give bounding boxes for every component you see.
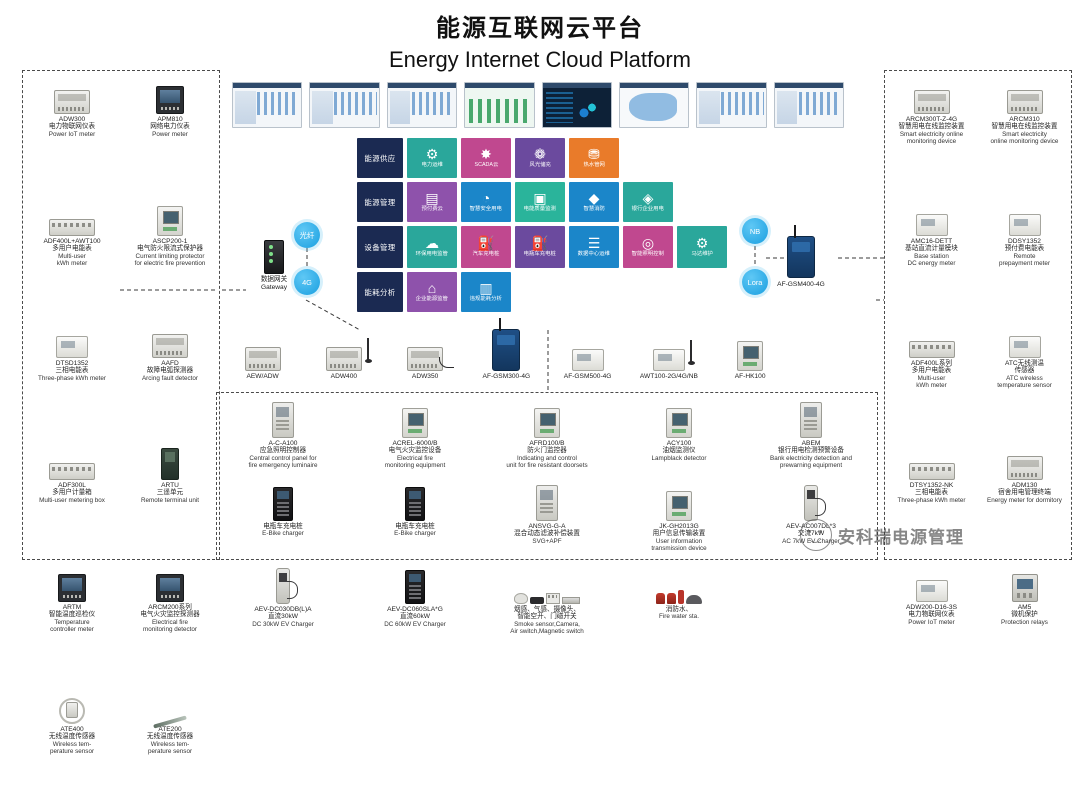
device-card[interactable]: ADW300电力物联网仪表Power IoT meter [23,71,121,193]
matrix-tile[interactable]: ◎智能照明控制 [623,226,673,268]
matrix-tile-label: 预付费云 [421,207,442,212]
device-model: AF-GSM500-4G [564,373,612,380]
device-card[interactable]: AF-HK100 [710,334,791,388]
relay-unit-icon [1012,562,1038,602]
device-name-en: Energy meter for dormitory [987,497,1062,504]
matrix-tile[interactable]: ⛽汽车充电桩 [461,226,511,268]
wide-module-icon [49,196,95,236]
device-name-cn: 电力物联网仪表 [49,123,95,130]
device-model: ARCM200系列 [140,604,199,611]
device-card[interactable]: AMC16-DETT基站直流计量模块Base stationDC energy … [885,193,978,315]
dashboard-screen-1[interactable] [232,82,302,128]
device-name-en: Wireless tem-perature sensor [147,741,193,755]
device-model: ADW350 [412,373,438,380]
fire-group-icon [656,562,702,604]
bottom-device-panel: A-C-A100应急照明控制器Central control panel for… [216,392,878,560]
cabinet-icon [272,396,294,438]
matrix-tile[interactable]: ▤预付费云 [407,182,457,222]
cabinet-icon [800,396,822,438]
din-rail-meter-icon [54,74,90,114]
box-meter-icon [1009,318,1041,358]
badge-lora[interactable]: Lora [742,269,768,295]
device-model: AEW/ADW [247,373,279,380]
device-name-en: Power IoT meter [49,131,95,138]
charger-icon [405,479,425,521]
device-name-cn: 网络电力仪表 [150,123,190,130]
panel-meter-icon [156,74,184,114]
dashboard-screen-2[interactable] [309,82,379,128]
device-name-en: DC 60kW EV Charger [384,621,446,628]
device-name-cn: 电瓶车充电桩 [394,523,436,530]
device-name-cn: 电气火灾监控探测器 [140,611,199,618]
gateway-node[interactable]: 数据网关 Gateway [244,238,304,291]
diagram-root: 能源互联网云平台 Energy Internet Cloud Platform … [0,0,1080,590]
device-card[interactable]: 消防水、Fire water sta. [613,559,745,642]
device-name-cn: 直流30kW [252,613,314,620]
matrix-tile-label: 智能照明控制 [632,252,664,257]
matrix-tile-label: 环保用电监管 [416,252,448,257]
device-name-cn: 多用户电能表 [43,245,100,252]
device-name-cn: 智能温度巡检仪 [49,611,95,618]
gateway-device-icon [244,238,304,274]
matrix-tile-label: 电力运维 [421,163,442,168]
bulb-icon: ◎ [642,236,654,250]
device-name-cn: 电气火灾监控设备 [385,447,446,454]
device-card[interactable]: ARTM智能温度巡检仪Temperaturecontroller meter [23,559,121,681]
device-name-en: ATC wirelesstemperature sensor [997,375,1052,389]
device-model: ARTM [49,604,95,611]
device-card[interactable]: ATC无线测温传感器ATC wirelesstemperature sensor [978,315,1071,437]
wall-box-icon [534,396,560,438]
panel-meter-icon [58,562,86,602]
device-name-en: Multi-user metering box [39,497,105,504]
device-card[interactable]: 电瓶车充电桩E-Bike charger [349,476,481,559]
title-chinese: 能源互联网云平台 [0,14,1080,44]
device-name-cn: 多用户电能表 [911,367,952,374]
gateway-label-cn: 数据网关 [244,276,304,284]
round-sensor-icon [59,684,85,724]
dashboard-screen-7[interactable] [696,82,766,128]
device-model: AF-GSM300-4G [483,373,531,380]
device-name-en: Indicating and controlunit for fire resi… [506,455,587,469]
matrix-tile-label: 企业能源监管 [416,297,448,302]
device-name-en: Multi-userkWh meter [911,375,952,389]
matrix-tile-label: 智慧消防 [583,207,604,212]
device-card[interactable]: DDSY1352预付费电能表Remoteprepayment meter [978,193,1071,315]
device-card[interactable]: ADW200-D16-3S电力物联网仪表Power IoT meter [885,559,978,681]
matrix-tile[interactable]: ☰数据中心运维 [569,226,619,268]
matrix-row: 能耗分析⌂企业能源监管▥违规能耗分析 [357,272,687,312]
matrix-tile[interactable]: ✸SCADA云 [461,138,511,178]
matrix-tile[interactable]: ⚙电力运维 [407,138,457,178]
device-name-en: E-Bike charger [394,530,436,537]
badge-nb[interactable]: NB [742,218,768,244]
device-name-en: Smart electricityonline monitoring devic… [991,131,1059,145]
gsm-modem-icon-icon [492,337,520,371]
wall-box-icon [157,196,183,236]
device-card[interactable]: AF-GSM300-4G [466,334,547,388]
matrix-tile[interactable]: ◆智慧消防 [569,182,619,222]
device-card[interactable]: 电瓶车充电桩E-Bike charger [217,476,349,559]
matrix-row-header: 能源管理 [357,182,403,222]
antenna-module-icon [653,337,685,371]
panel-meter-icon [156,562,184,602]
device-name-en: E-Bike charger [262,530,304,537]
gsm-modem-icon [768,232,834,278]
device-name-cn: 三遥单元 [141,489,199,496]
gauge-icon: ◔ [482,191,490,205]
device-card[interactable]: AAFD故障电弧探测器Arcing fault detector [121,315,219,437]
device-card[interactable]: ABEM银行用电检测预警设备Bank electricity detection… [745,393,877,476]
stick-sensor-icon [153,684,187,724]
device-name-en: Lampblack detector [652,455,707,462]
matrix-row-header: 设备管理 [357,226,403,268]
smiley-face-icon [800,519,832,551]
device-name-en: Base stationDC energy meter [905,253,958,267]
device-model: ATE400 [49,726,95,733]
device-card[interactable]: ATE200无线温度传感器Wireless tem-perature senso… [121,681,219,803]
box-meter-icon [56,318,88,358]
ebike-charger-icon: ⛽ [531,236,548,250]
wall-box-icon [737,337,763,371]
device-card[interactable]: ARCM200系列电气火灾监控探测器Electrical firemonitor… [121,559,219,681]
matrix-tile[interactable]: ▥违规能耗分析 [461,272,511,312]
device-name-cn: 烟感、气感、摄像头、智能空开、门磁开关 [510,606,583,621]
din-rail-meter-icon [914,74,950,114]
cloud-leaf-icon: ☁ [425,236,439,250]
matrix-tile-label: 违规能耗分析 [470,297,502,302]
device-name-en: DC 30kW EV Charger [252,621,314,628]
watermark: 安科瑞电源管理 [800,512,1030,558]
building-chart-icon: ▥ [479,281,492,295]
gear-icon: ⚙ [696,236,709,250]
device-name-en: SVG+APF [514,538,580,545]
right-modem-label: AF-GSM400-4G [768,281,834,288]
matrix-tile[interactable]: ⛃热水管网 [569,138,619,178]
matrix-row: 能源供应⚙电力运维✸SCADA云❁风光储充⛃热水管网 [357,138,687,178]
device-card[interactable]: ANSVG-G-A混合动态滤波补偿装置SVG+APF [481,476,613,559]
device-model: ADW200-D16-3S [906,604,957,611]
device-card[interactable]: AM5微机保护Protection relays [978,559,1071,681]
device-name-cn: 防火门监控器 [506,447,587,454]
tall-unit-icon [161,440,179,480]
wall-box-icon [402,396,428,438]
device-name-cn: 三相电能表 [898,489,966,496]
device-name-en: Arcing fault detector [142,375,198,382]
din-rail-meter-icon [1007,440,1043,480]
wide-module-icon [909,318,955,358]
watermark-text: 安科瑞电源管理 [838,523,964,548]
device-card[interactable]: AF-GSM500-4G [547,334,628,388]
device-name-en: Electrical firemonitoring detector [140,619,199,633]
dashboard-screens-row [232,82,844,128]
device-name-cn: 无线温度传感器 [49,733,95,740]
device-name-cn: 微机保护 [1001,611,1048,618]
device-card[interactable]: ATE400无线温度传感器Wireless tem-perature senso… [23,681,121,803]
device-name-cn: 电力物联网仪表 [906,611,957,618]
din-cable-meter-icon [407,337,443,371]
dashboard-screen-4[interactable] [464,82,534,128]
device-model: AWT100-2G/4G/NB [640,373,698,380]
dashboard-screen-6[interactable] [619,82,689,128]
device-name-en: Remote terminal unit [141,497,199,504]
device-model: AEV-DC030DB(L)A [252,606,314,613]
wrench-gear-icon: ⚙ [426,147,439,161]
device-name-cn: 宿舍用电管理终端 [987,489,1062,496]
device-name-cn: 三相电能表 [38,367,106,374]
shield-icon: ◆ [589,191,600,205]
dashboard-screen-3[interactable] [387,82,457,128]
matrix-tile[interactable]: ⌂企业能源监管 [407,272,457,312]
device-card[interactable]: AEV-DC060SLA*G直流60kWDC 60kW EV Charger [349,559,481,642]
device-name-cn: 无线温度传感器 [147,733,193,740]
matrix-tile-label: 风光储充 [529,163,550,168]
device-model: ADW400 [331,373,357,380]
device-model: AM5 [1001,604,1048,611]
matrix-tile[interactable]: ◈银行企业用电 [623,182,673,222]
device-name-en: Wireless tem-perature sensor [49,741,95,755]
gateway-label-en: Gateway [244,284,304,292]
matrix-tile-label: 银行企业用电 [632,207,664,212]
device-card[interactable]: ARCM300T-Z-4G智慧用电在线监控装置Smart electricity… [885,71,978,193]
device-name-cn: 直流60kW [384,613,446,620]
charger-icon [273,479,293,521]
device-card[interactable]: ADF400L+AWT100多用户电能表Multi-userkWh meter [23,193,121,315]
device-name-en: Power meter [150,131,190,138]
matrix-row: 能源管理▤预付费云◔智慧安全用电▣电能质量监测◆智慧消防◈银行企业用电 [357,182,687,222]
device-name-cn: 智慧用电在线监控装置 [991,123,1059,130]
matrix-tile[interactable]: ▣电能质量监测 [515,182,565,222]
device-model: AF-HK100 [735,373,766,380]
device-card[interactable]: ADW350 [385,334,466,388]
device-card[interactable]: DTSD1352三相电能表Three-phase kWh meter [23,315,121,437]
device-name-cn: 消防水、 [659,606,699,613]
diamond-icon: ◈ [643,191,654,205]
device-name-en: Three-phase kWh meter [38,375,106,382]
left-device-panel: ADW300电力物联网仪表Power IoT meterAPM810网络电力仪表… [22,70,220,560]
device-name-en: Fire water sta. [659,613,699,620]
right-device-panel: ARCM300T-Z-4G智慧用电在线监控装置Smart electricity… [884,70,1072,560]
matrix-tile[interactable]: ⚙马达维护 [677,226,727,268]
device-name-cn: 故障电弧探测器 [142,367,198,374]
device-name-en: Central control panel forfire emergency … [249,455,318,469]
matrix-row: 设备管理☁环保用电监管⛽汽车充电桩⛽电瓶车充电桩☰数据中心运维◎智能照明控制⚙马… [357,226,687,268]
charger-icon [405,562,425,604]
din-rail-meter-icon [152,318,188,358]
device-card[interactable]: AWT100-2G/4G/NB [628,334,709,388]
device-name-cn: 多用户计量箱 [39,489,105,496]
matrix-tile-label: 数据中心运维 [578,252,610,257]
device-card[interactable]: ACREL-6000/B电气火灾监控设备Electrical firemonit… [349,393,481,476]
device-card[interactable]: AEV-DC030DB(L)A直流30kWDC 30kW EV Charger [217,559,349,642]
matrix-tile-label: 汽车充电桩 [473,252,500,257]
device-name-cn: 用户信息传输装置 [651,530,706,537]
payment-card-icon: ▤ [425,191,438,205]
wind-turbine-icon: ❁ [534,147,546,161]
matrix-tile-label: SCADA云 [474,163,498,168]
device-card[interactable]: ACY100油烟监测仪Lampblack detector [613,393,745,476]
device-card[interactable]: 烟感、气感、摄像头、智能空开、门磁开关Smoke sensor,Camera,A… [481,559,613,642]
device-name-cn: 油烟监测仪 [652,447,707,454]
device-name-en: Bank electricity detection andprewarning… [770,455,852,469]
device-name-cn: 预付费电能表 [999,245,1050,252]
monitor-chart-icon: ▣ [533,191,546,205]
device-card[interactable]: ARTU三遥单元Remote terminal unit [121,437,219,559]
device-card[interactable]: AFRD100/B防火门监控器Indicating and controluni… [481,393,613,476]
device-name-cn: 银行用电检测预警设备 [770,447,852,454]
device-card[interactable]: A-C-A100应急照明控制器Central control panel for… [217,393,349,476]
device-name-cn: 应急照明控制器 [249,447,318,454]
device-card[interactable]: ASCP200-1电气防火限流式保护器Current limiting prot… [121,193,219,315]
wall-box-icon [666,479,692,521]
din-rail-meter-icon [1007,74,1043,114]
matrix-tile-label: 电瓶车充电桩 [524,252,556,257]
box-meter-icon [572,337,604,371]
device-name-cn: 混合动态滤波补偿装置 [514,530,580,537]
matrix-tile[interactable]: ❁风光储充 [515,138,565,178]
pillar-icon [276,562,290,604]
smoke-group-icon [514,562,580,604]
device-card[interactable]: ADF400L系列多用户电能表Multi-userkWh meter [885,315,978,437]
device-name-en: User informationtransmission device [651,538,706,552]
box-meter-icon [916,196,948,236]
middle-device-strip: AEW/ADWADW400ADW350AF-GSM300-4GAF-GSM500… [222,334,872,388]
dashboard-screen-5[interactable] [542,82,612,128]
device-name-en: Smart electricity onlinemonitoring devic… [899,131,965,145]
box-meter-icon [916,562,948,602]
device-card[interactable]: ADF300L多用户计量箱Multi-user metering box [23,437,121,559]
water-tank-icon: ⛃ [588,147,600,161]
matrix-tile-label: 马达维护 [691,252,712,257]
device-card[interactable]: JK-GH2013G用户信息传输装置User informationtransm… [613,476,745,559]
device-name-en: Multi-userkWh meter [43,253,100,267]
wide-module-icon [49,440,95,480]
device-name-cn: 电瓶车充电桩 [262,523,304,530]
dashboard-screen-8[interactable] [774,82,844,128]
matrix-tile[interactable]: ☁环保用电监管 [407,226,457,268]
device-card[interactable]: ARCM310智慧用电在线监控装置Smart electricityonline… [978,71,1071,193]
matrix-row-header: 能源供应 [357,138,403,178]
matrix-tile-label: 电能质量监测 [524,207,556,212]
wall-box-icon [666,396,692,438]
device-name-cn: 智慧用电在线监控装置 [899,123,965,130]
matrix-row-header: 能耗分析 [357,272,403,312]
page-title: 能源互联网云平台 Energy Internet Cloud Platform [0,14,1080,75]
device-name-cn: 电气防火限流式保护器 [135,245,206,252]
device-card[interactable]: APM810网络电力仪表Power meter [121,71,219,193]
device-name-cn: 传感器 [997,367,1052,374]
matrix-tile-label: 热水管网 [583,163,604,168]
device-card[interactable]: ADW400 [303,334,384,388]
snowflake-icon: ✸ [480,147,492,161]
device-name-en: Protection relays [1001,619,1048,626]
server-stack-icon: ☰ [588,236,601,250]
device-name-en: Electrical firemonitoring equipment [385,455,446,469]
factory-cloud-icon: ⌂ [428,281,436,295]
box-meter-icon [1009,196,1041,236]
device-name-en: Three-phase kWh meter [898,497,966,504]
platform-function-matrix: 能源供应⚙电力运维✸SCADA云❁风光储充⛃热水管网能源管理▤预付费云◔智慧安全… [357,138,687,316]
ev-charger-icon: ⛽ [477,236,494,250]
cabinet-icon [536,479,558,521]
matrix-tile-label: 智慧安全用电 [470,207,502,212]
device-name-en: Smoke sensor,Camera,Air switch,Magnetic … [510,621,583,635]
matrix-tile[interactable]: ◔智慧安全用电 [461,182,511,222]
device-card[interactable]: AEW/ADW [222,334,303,388]
matrix-tile[interactable]: ⛽电瓶车充电桩 [515,226,565,268]
din-rail-meter-icon [245,337,281,371]
din-antenna-meter-icon [326,337,362,371]
right-modem-node[interactable]: AF-GSM400-4G [768,232,834,288]
wide-module-icon [909,440,955,480]
device-model: AEV-DC060SLA*G [384,606,446,613]
device-name-cn: 基站直流计量模块 [905,245,958,252]
device-name-en: Remoteprepayment meter [999,253,1050,267]
device-name-en: Power IoT meter [906,619,957,626]
device-name-en: Current limiting protectorfor electric f… [135,253,206,267]
device-name-en: Temperaturecontroller meter [49,619,95,633]
